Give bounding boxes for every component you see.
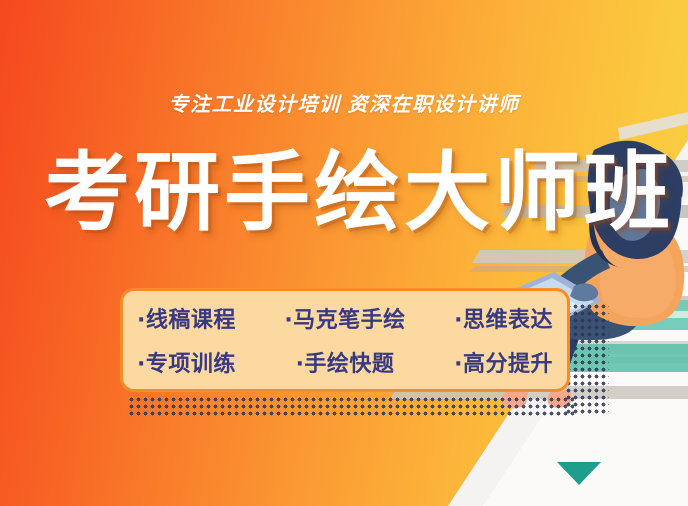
feature-item-thinking-expression: ·思维表达 — [454, 302, 553, 334]
halftone-dots-bottom — [128, 396, 574, 418]
feature-row-1: ·线稿课程 ·马克笔手绘 ·思维表达 — [137, 296, 553, 340]
feature-item-score-boost: ·高分提升 — [454, 346, 553, 378]
feature-item-special-training: ·专项训练 — [137, 346, 236, 378]
student-illustration — [388, 0, 688, 506]
feature-item-line-draft: ·线稿课程 — [137, 302, 236, 334]
feature-list-box: ·线稿课程 ·马克笔手绘 ·思维表达 ·专项训练 ·手绘快题 ·高分提升 — [120, 288, 570, 392]
banner-subtitle: 专注工业设计培训 资深在职设计讲师 — [0, 88, 688, 117]
halftone-dots-right — [565, 303, 609, 415]
feature-item-quick-sketch: ·手绘快题 — [296, 346, 395, 378]
feature-item-marker-sketch: ·马克笔手绘 — [284, 302, 405, 334]
promo-banner: 专注工业设计培训 资深在职设计讲师 考研手绘大师班 ·线稿课程 ·马克笔手绘 ·… — [0, 0, 688, 506]
feature-row-2: ·专项训练 ·手绘快题 ·高分提升 — [137, 340, 553, 384]
teal-triangle-accent — [557, 462, 601, 485]
banner-headline: 考研手绘大师班 — [44, 148, 644, 238]
